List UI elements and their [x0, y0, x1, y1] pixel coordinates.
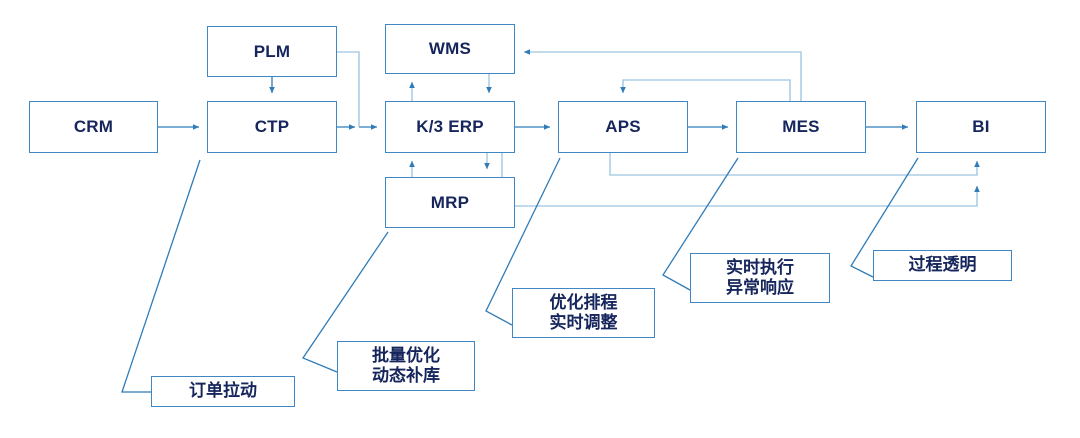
node-bi[interactable]: BI [916, 101, 1046, 153]
node-label: BI [972, 117, 989, 137]
callout-schedule-optimize[interactable]: 优化排程 实时调整 [512, 288, 655, 338]
connector-aps-to-bi-feedback [610, 153, 977, 175]
callout-process-visible[interactable]: 过程透明 [873, 250, 1012, 281]
node-mes[interactable]: MES [736, 101, 866, 153]
callout-line: 订单拉动 [189, 381, 257, 401]
node-label: K/3 ERP [416, 117, 484, 137]
node-mrp[interactable]: MRP [385, 177, 515, 228]
callout-line: 批量优化 [372, 346, 440, 366]
callout-order-pull[interactable]: 订单拉动 [151, 376, 295, 407]
connector-mes-to-aps-feedback [623, 80, 790, 101]
node-label: APS [605, 117, 641, 137]
callout-line: 实时调整 [550, 313, 618, 333]
diagram-canvas: CRM PLM CTP WMS K/3 ERP MRP APS MES BI 订… [0, 0, 1080, 438]
callout-realtime-exec[interactable]: 实时执行 异常响应 [690, 253, 830, 303]
node-label: WMS [429, 39, 471, 59]
node-wms[interactable]: WMS [385, 24, 515, 74]
callout-line: 异常响应 [726, 278, 794, 298]
node-label: MES [782, 117, 819, 137]
connector-mrp-to-bi-feedback [515, 186, 977, 206]
node-ctp[interactable]: CTP [207, 101, 337, 153]
node-label: MRP [431, 193, 469, 213]
connector-layer [0, 0, 1080, 438]
connector-plm-to-erp [337, 52, 359, 127]
callout-line: 优化排程 [550, 293, 618, 313]
leader-ctp-to-order-pull [122, 160, 200, 392]
node-plm[interactable]: PLM [207, 26, 337, 77]
node-crm[interactable]: CRM [29, 101, 158, 153]
node-label: CTP [255, 117, 290, 137]
node-label: PLM [254, 42, 290, 62]
callout-line: 过程透明 [909, 255, 977, 275]
callout-line: 实时执行 [726, 258, 794, 278]
node-label: CRM [74, 117, 113, 137]
callout-batch-optimize[interactable]: 批量优化 动态补库 [337, 341, 475, 391]
connector-mes-to-wms-feedback [524, 52, 801, 101]
node-aps[interactable]: APS [558, 101, 688, 153]
node-k3erp[interactable]: K/3 ERP [385, 101, 515, 153]
callout-line: 动态补库 [372, 366, 440, 386]
